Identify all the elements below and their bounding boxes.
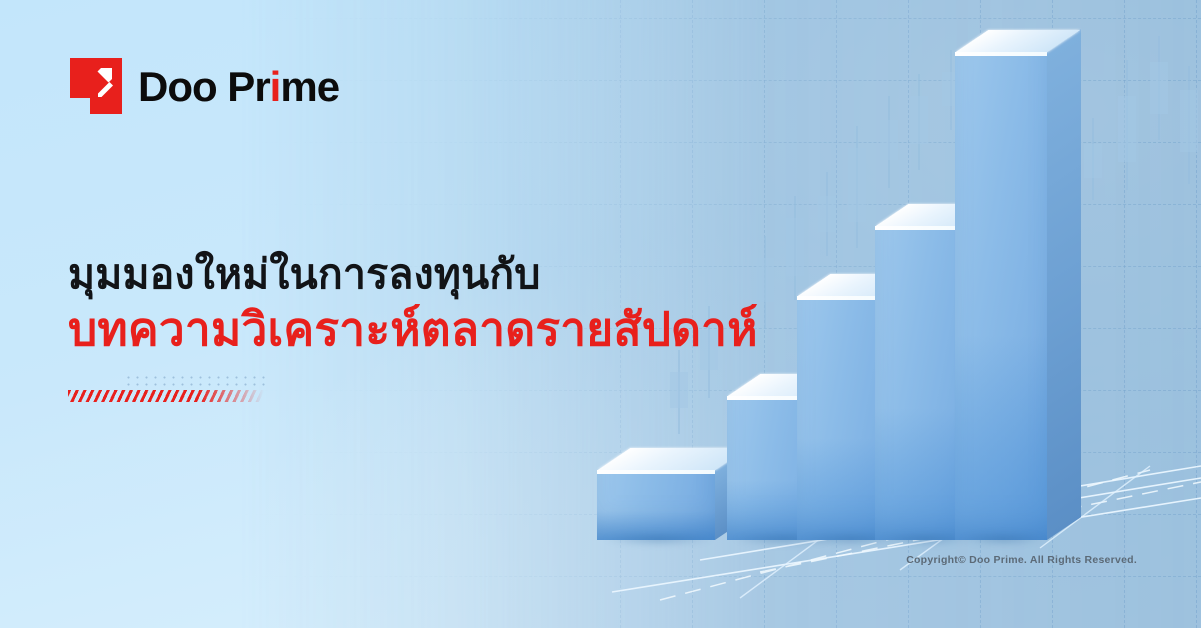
doo-prime-logo-icon [70,58,122,114]
bar-column [597,470,715,540]
brand-wordmark: Doo Prime [138,66,339,108]
bar-front-face [597,470,715,540]
bar-ground-shadow [604,532,713,546]
dot-grid-decoration [124,374,268,388]
bar-top-highlight [597,470,715,474]
marketing-banner: Doo Prime มุมมองใหม่ในการลงทุนกับ บทความ… [0,0,1201,628]
headline-block: มุมมองใหม่ในการลงทุนกับ บทความวิเคราะห์ต… [68,250,828,358]
headline-line-1: มุมมองใหม่ในการลงทุนกับ [68,250,828,298]
logo-i-dot: i [270,63,281,110]
headline-line-2: บทความวิเคราะห์ตลาดรายสัปดาห์ [68,302,828,357]
bar-ground-shadow [961,532,1046,546]
bar-column [955,52,1047,540]
brand-logo[interactable]: Doo Prime [70,58,339,114]
copyright-text: Copyright© Doo Prime. All Rights Reserve… [906,554,1137,566]
bar-side-face [1047,29,1081,540]
decorative-accent [68,374,268,402]
bar-top-highlight [955,52,1047,56]
bar-front-face [955,52,1047,540]
red-stripe-bar [68,390,264,402]
brand-name-text: Doo Prime [138,63,339,110]
